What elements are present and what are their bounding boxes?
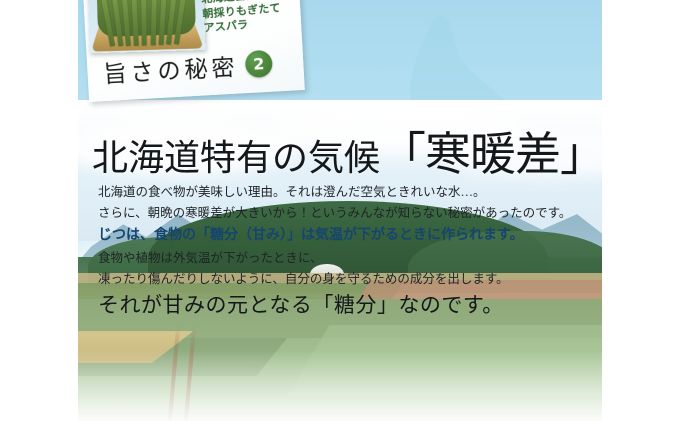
poster-canvas: 北海道特有の気候「寒暖差」 北海道の食べ物が美味しい理由。それは澄んだ空気ときれ…	[0, 0, 680, 421]
step-number-badge: 2	[245, 49, 273, 77]
content-panel: 北海道特有の気候「寒暖差」 北海道の食べ物が美味しい理由。それは澄んだ空気ときれ…	[78, 0, 602, 421]
handwritten-caption: 北海道富良野産の 朝採りもぎたて アスパラ	[201, 0, 300, 36]
body-line-3: 食物や植物は外気温が下がったときに、	[98, 248, 568, 269]
card-title: 旨さの秘密 2	[103, 46, 274, 89]
body-copy: 北海道の食べ物が美味しい理由。それは澄んだ空気ときれいな水…。 さらに、朝晩の寒…	[98, 182, 568, 320]
headline-prefix: 北海道特有の気候	[92, 138, 380, 178]
body-highlight: じつは、食物の「糖分（甘み）」は気温が下がるときに作られます。	[98, 224, 568, 248]
secret-label-card: 北海道富良野産の 朝採りもぎたて アスパラ 旨さの秘密 2	[83, 0, 305, 102]
headline-emphasis: 「寒暖差」	[380, 129, 602, 180]
body-line-2: さらに、朝晩の寒暖差が大きいから！というみんなが知らない秘密があったのです。	[98, 203, 568, 224]
page-title: 北海道特有の気候「寒暖差」	[92, 118, 602, 184]
card-title-text: 旨さの秘密	[103, 48, 240, 89]
body-conclusion: それが甘みの元となる「糖分」なのです。	[98, 290, 568, 320]
asparagus-photo	[87, 0, 205, 53]
body-line-1: 北海道の食べ物が美味しい理由。それは澄んだ空気ときれいな水…。	[98, 182, 568, 203]
body-line-4: 凍ったり傷んだりしないように、自分の身を守るための成分を出します。	[98, 269, 568, 290]
